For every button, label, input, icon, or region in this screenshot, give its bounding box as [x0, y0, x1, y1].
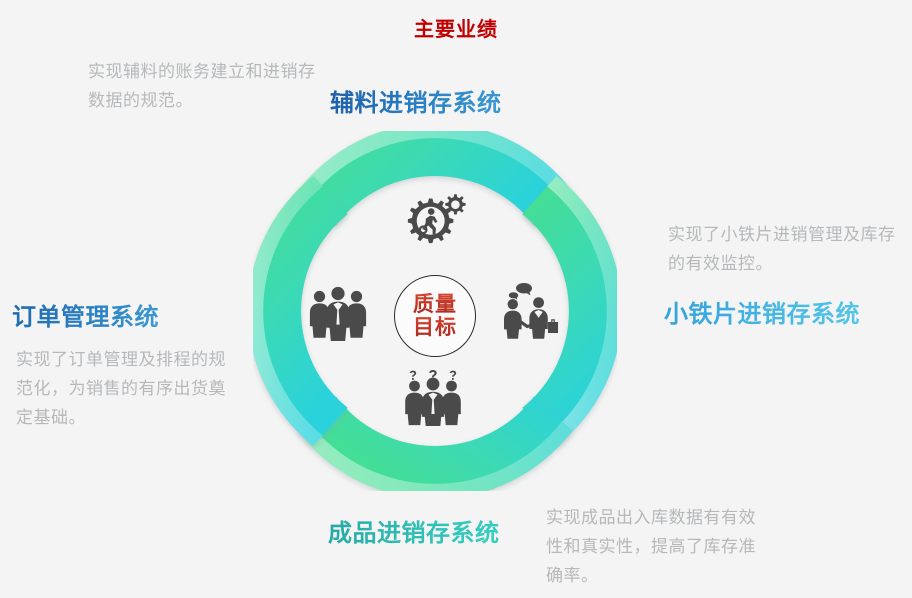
small-gear-shape: [445, 194, 465, 214]
quadrant-description-bottom: 实现成品出入库数据有有效性和真实性，提高了库存准确率。: [546, 503, 768, 590]
person-in-gear-icon: [399, 190, 467, 254]
page-title: 主要业绩: [0, 13, 912, 42]
quadrant-heading-bottom: 成品进销存系统: [328, 513, 500, 548]
handshake-conversation-icon: [498, 280, 560, 340]
three-people-question-icon: [402, 370, 464, 426]
quadrant-heading-top: 辅料进销存系统: [330, 83, 502, 118]
quadrant-heading-left: 订单管理系统: [12, 297, 159, 332]
center-line-2: 目标: [413, 316, 457, 339]
walking-person-shape: [419, 208, 438, 234]
three-people-team-icon: [307, 285, 369, 341]
quadrant-description-left: 实现了订单管理及排程的规范化，为销售的有序出货奠定基础。: [16, 345, 230, 432]
center-line-1: 质量: [413, 293, 457, 316]
infographic-canvas: 主要业绩: [0, 0, 912, 598]
center-badge: 质量 目标: [394, 275, 476, 357]
quadrant-heading-right: 小铁片进销存系统: [664, 294, 860, 329]
quadrant-description-top: 实现辅料的账务建立和进销存数据的规范。: [88, 57, 324, 115]
quadrant-description-right: 实现了小铁片进销管理及库存的有效监控。: [668, 220, 906, 278]
